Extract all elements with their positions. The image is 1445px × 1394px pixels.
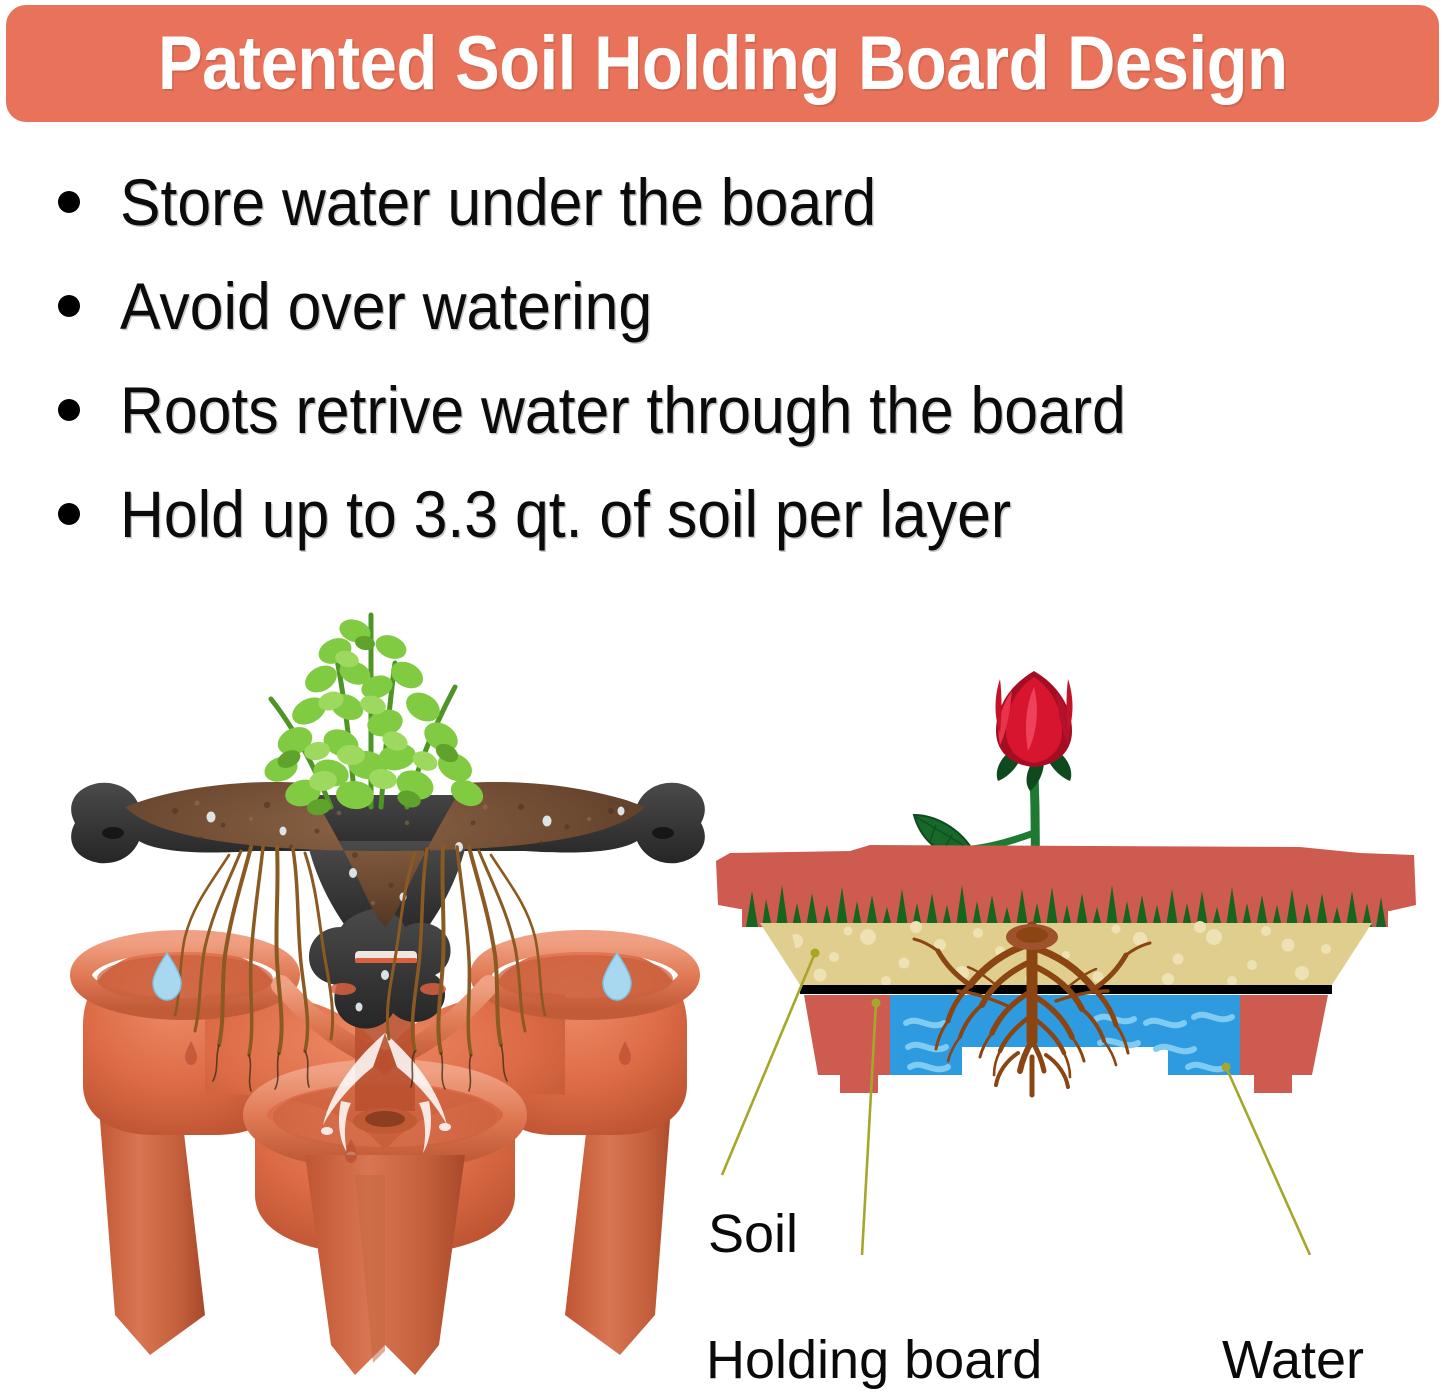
soil-layer — [760, 921, 1372, 991]
bullet-dot-icon — [58, 503, 80, 525]
feature-label: Store water under the board — [120, 169, 876, 235]
stackable-planter-product-photo — [55, 555, 715, 1385]
plant-foliage — [261, 615, 488, 817]
bullet-dot-icon — [58, 295, 80, 317]
bullet-dot-icon — [58, 399, 80, 421]
list-item: Roots retrive water through the board — [0, 358, 1445, 462]
list-item: Store water under the board — [0, 150, 1445, 254]
feature-list: Store water under the board Avoid over w… — [0, 150, 1445, 566]
feature-label: Avoid over watering — [120, 273, 652, 339]
rose-bloom — [996, 671, 1073, 767]
water-reservoir — [890, 995, 1240, 1075]
list-item: Hold up to 3.3 qt. of soil per layer — [0, 462, 1445, 566]
page-title: Patented Soil Holding Board Design — [158, 26, 1288, 102]
planter-front-cone — [305, 1155, 465, 1375]
bullet-dot-icon — [58, 191, 80, 213]
callout-label-holding-board: Holding board — [706, 1333, 1042, 1387]
root-crown — [1006, 924, 1058, 950]
leader-line-soil — [722, 953, 815, 1175]
list-item: Avoid over watering — [0, 254, 1445, 358]
callout-label-water: Water — [1222, 1333, 1364, 1387]
pot-cross-section-diagram — [700, 655, 1430, 1255]
feature-label: Roots retrive water through the board — [120, 377, 1126, 443]
header-banner: Patented Soil Holding Board Design — [6, 5, 1439, 122]
feature-label: Hold up to 3.3 qt. of soil per layer — [120, 481, 1011, 547]
leader-line-water — [1226, 1067, 1310, 1255]
callout-label-soil: Soil — [708, 1207, 798, 1261]
